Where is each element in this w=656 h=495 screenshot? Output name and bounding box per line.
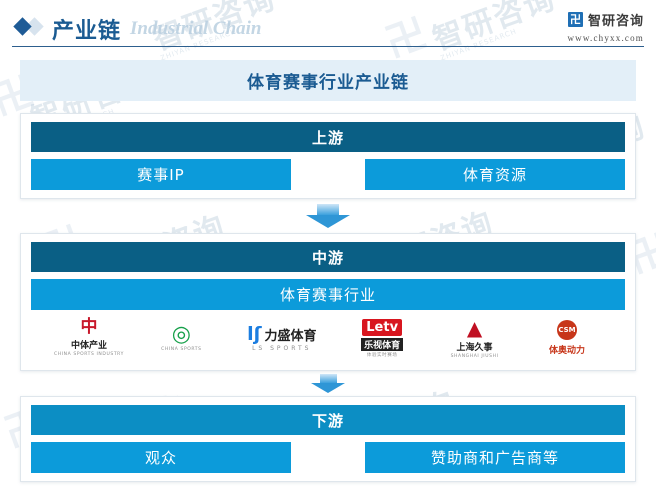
- tier-upstream-items: 赛事IP 体育资源: [31, 159, 625, 190]
- company-logo-csm[interactable]: CSM 体奥动力: [523, 320, 611, 356]
- chart-title-bar: 体育赛事行业产业链: [20, 60, 636, 101]
- brand-logo-icon: 卍: [568, 12, 583, 27]
- tier-spacer: [291, 159, 365, 190]
- zhongguo-tiyu-glyph-icon: ◎: [172, 324, 191, 346]
- company-name: 体奥动力: [549, 343, 585, 356]
- company-name-en: LS SPORTS: [252, 345, 311, 352]
- brand-row: 卍 智研咨询: [514, 10, 644, 29]
- company-logo-zhongti[interactable]: 中 中体产业 CHINA SPORTS INDUSTRY: [45, 319, 133, 357]
- tier-item-tiyu-ziyuan[interactable]: 体育资源: [365, 159, 625, 190]
- header-divider: [12, 46, 644, 47]
- tier-midstream-header: 中游: [31, 242, 625, 272]
- zhongti-glyph-icon: 中: [81, 319, 98, 336]
- diamond-front-icon: [13, 17, 31, 35]
- company-name-en: SHANGHAI JIUSHI: [451, 354, 499, 359]
- industrial-chain-diagram: 体育赛事行业产业链 上游 赛事IP 体育资源 中游 体育赛事行业 中 中体产业 …: [0, 52, 656, 482]
- section-label: 产业链: [52, 13, 121, 45]
- letv-glyph-icon: Letv: [362, 319, 402, 336]
- arrow-shaft: [317, 204, 339, 215]
- lisheng-glyph-icon: lʃ: [247, 325, 261, 344]
- flow-arrow-down-2: [311, 374, 345, 393]
- company-logo-zhongguo-tiyu[interactable]: ◎ CHINA SPORTS: [137, 324, 225, 352]
- company-logo-strip: 中 中体产业 CHINA SPORTS INDUSTRY ◎ CHINA SPO…: [31, 310, 625, 362]
- tier-midstream-items: 体育赛事行业: [31, 279, 625, 310]
- tier-downstream: 下游 观众 赞助商和广告商等: [20, 396, 636, 482]
- arrow-head: [311, 383, 345, 393]
- company-name-en: CHINA SPORTS: [161, 347, 201, 352]
- tier-upstream: 上游 赛事IP 体育资源: [20, 113, 636, 199]
- tier-downstream-header: 下游: [31, 405, 625, 435]
- brand-name: 智研咨询: [588, 10, 644, 29]
- diamond-icon: [14, 18, 54, 36]
- brand-block: 卍 智研咨询 www.chyxx.com: [514, 10, 644, 43]
- company-name-en: 体验实时赛场: [367, 352, 398, 358]
- brand-url: www.chyxx.com: [514, 33, 644, 43]
- company-name: 力盛体育: [264, 325, 316, 344]
- company-logo-lisheng[interactable]: lʃ 力盛体育 LS SPORTS: [230, 325, 334, 352]
- tier-midstream: 中游 体育赛事行业 中 中体产业 CHINA SPORTS INDUSTRY ◎…: [20, 233, 636, 371]
- tier-item-saishi-ip[interactable]: 赛事IP: [31, 159, 291, 190]
- csm-glyph-icon: CSM: [557, 320, 577, 340]
- arrow-head: [306, 215, 350, 228]
- flow-arrow-down-1: [306, 204, 350, 228]
- tier-downstream-items: 观众 赞助商和广告商等: [31, 442, 625, 473]
- company-name: 中体产业: [71, 338, 107, 351]
- company-logo-letv[interactable]: Letv 乐视体育 体验实时赛场: [338, 319, 426, 358]
- tier-item-zanzhushang[interactable]: 赞助商和广告商等: [365, 442, 625, 473]
- arrow-shaft: [320, 374, 337, 383]
- company-name: 乐视体育: [361, 338, 403, 351]
- tier-item-guanzhong[interactable]: 观众: [31, 442, 291, 473]
- lisheng-logo-row: lʃ 力盛体育: [247, 325, 316, 344]
- company-name: 上海久事: [457, 340, 493, 353]
- page-header: Industrial Chain 产业链 卍 智研咨询 www.chyxx.co…: [0, 0, 656, 52]
- section-label-en: Industrial Chain: [130, 18, 262, 40]
- chart-title: 体育赛事行业产业链: [247, 68, 409, 93]
- company-name-en: CHINA SPORTS INDUSTRY: [54, 352, 124, 357]
- company-logo-shanghai-jiushi[interactable]: ▲ 上海久事 SHANGHAI JIUSHI: [431, 318, 519, 359]
- shanghai-jiushi-glyph-icon: ▲: [467, 318, 482, 338]
- tier-upstream-header: 上游: [31, 122, 625, 152]
- tier-spacer: [291, 442, 365, 473]
- tier-item-tiyu-saishi-hangye[interactable]: 体育赛事行业: [31, 279, 625, 310]
